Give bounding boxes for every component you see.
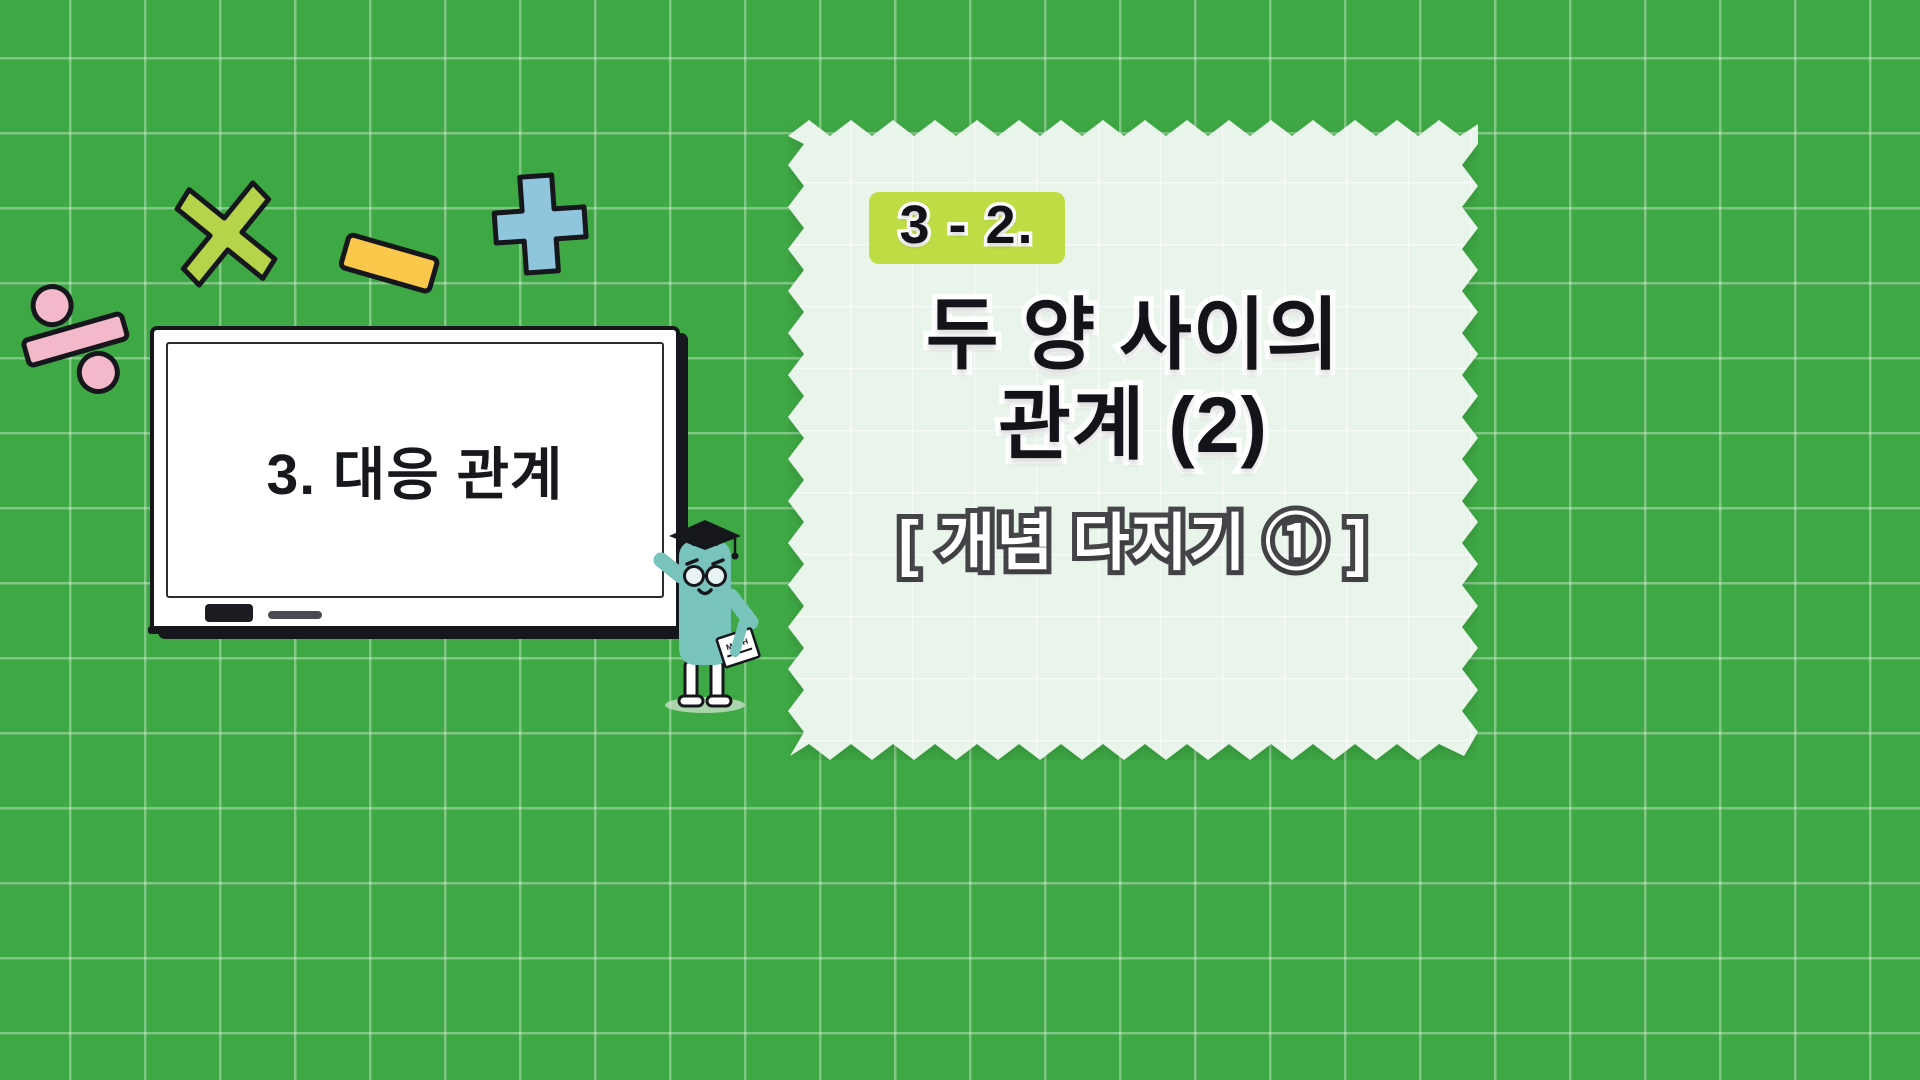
page-subtitle: [ 개념 다지기 ① ] xyxy=(898,492,1367,582)
divide-symbol-icon xyxy=(18,278,136,398)
lesson-number-label: 3 - 2. xyxy=(899,195,1034,255)
whiteboard-surface: 3. 대응 관계 xyxy=(166,342,664,598)
page-title-line-2: 관계 (2) xyxy=(926,380,1340,470)
plus-symbol-icon xyxy=(487,168,591,278)
whiteboard: 3. 대응 관계 xyxy=(150,326,680,632)
title-card: 3 - 2. 두 양 사이의 관계 (2) [ 개념 다지기 ① ] xyxy=(788,120,1478,760)
multiply-symbol-icon xyxy=(172,178,280,290)
marker-icon xyxy=(268,611,322,619)
math-student-character: MATH xyxy=(655,500,770,715)
lesson-number-badge: 3 - 2. xyxy=(869,192,1064,264)
whiteboard-title: 3. 대응 관계 xyxy=(267,429,564,511)
minus-symbol-icon xyxy=(336,232,441,302)
whiteboard-frame: 3. 대응 관계 xyxy=(150,326,680,632)
eraser-icon xyxy=(205,604,253,622)
page-title-line-1: 두 양 사이의 xyxy=(926,290,1340,380)
page-title: 두 양 사이의 관계 (2) xyxy=(926,290,1340,470)
whiteboard-tray xyxy=(148,626,682,634)
